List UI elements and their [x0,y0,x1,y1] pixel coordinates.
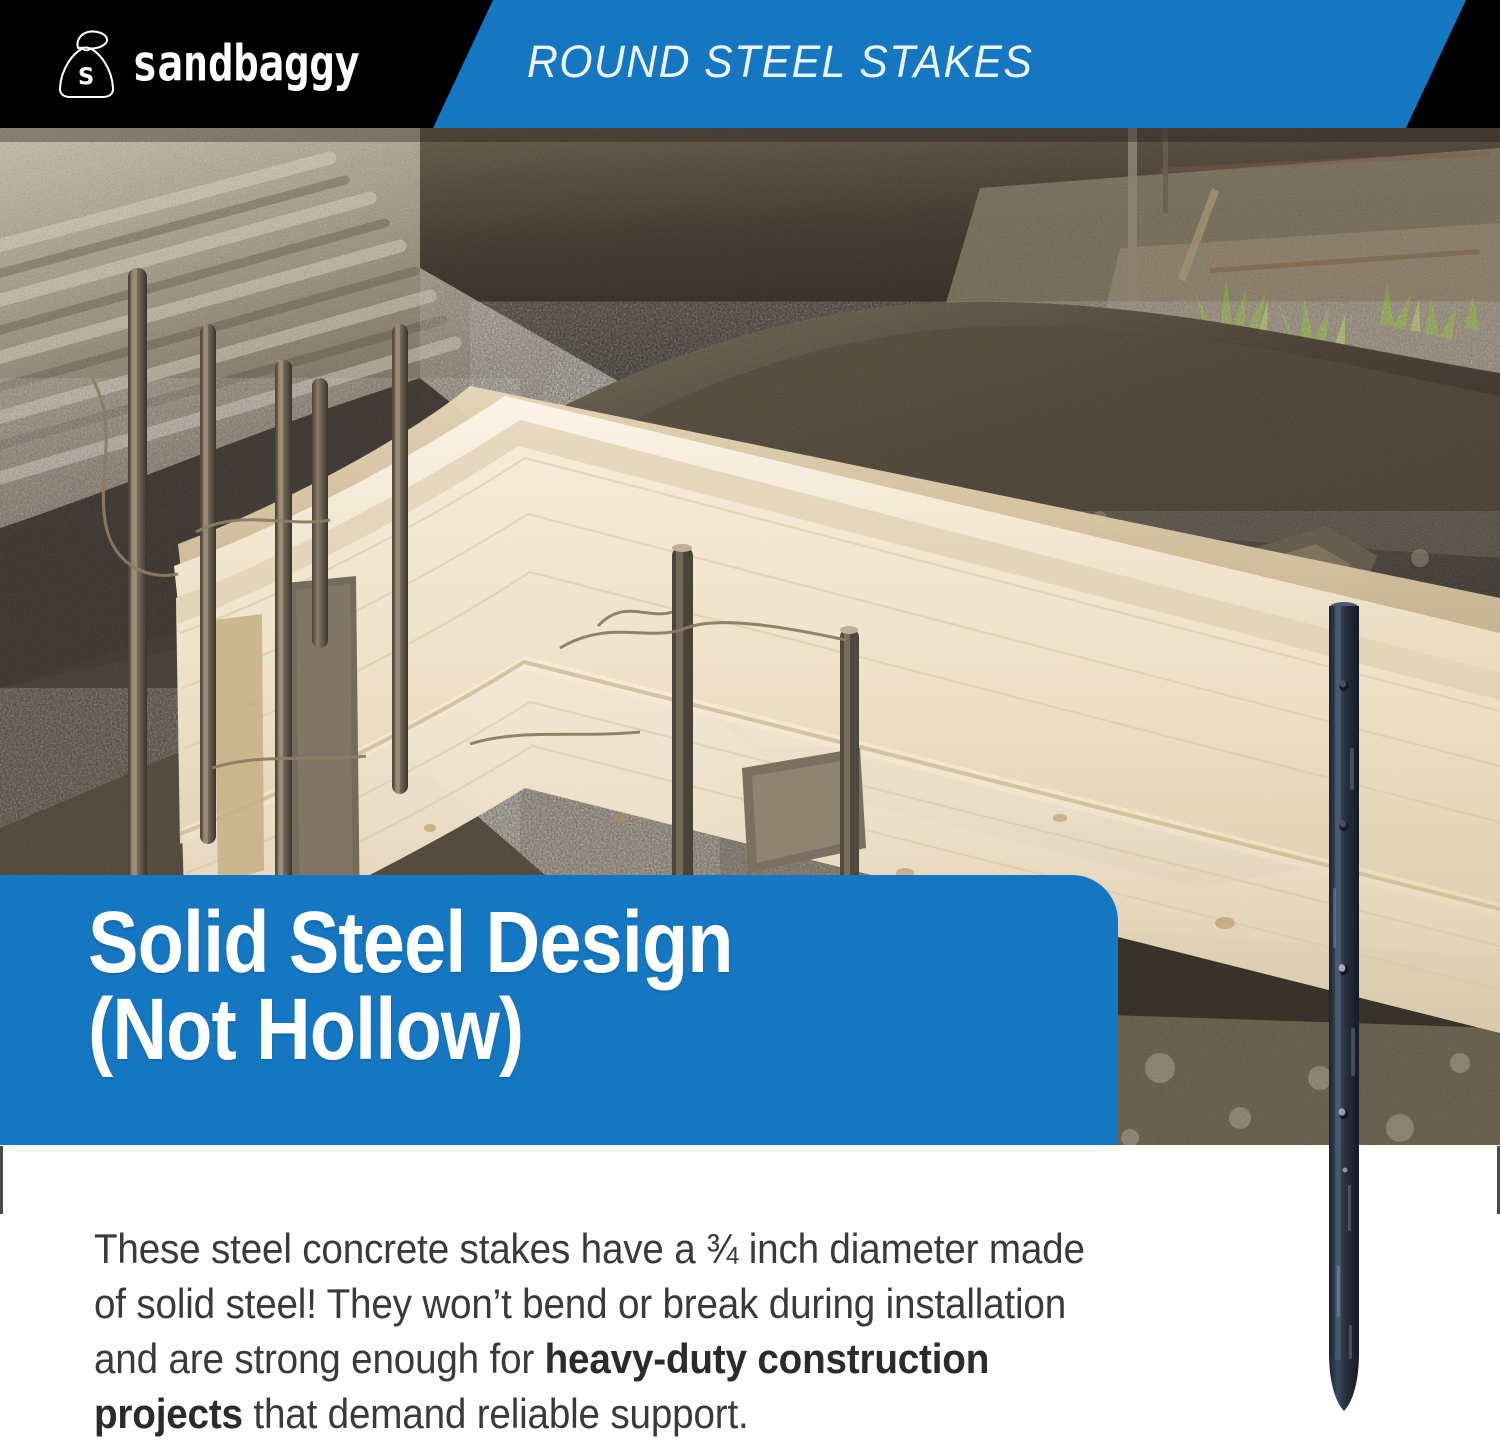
stake-overhang [1324,1145,1364,1413]
brand-logo-text: sandbaggy [132,39,360,89]
left-edge-rule [0,1146,3,1214]
description-paragraph: These steel concrete stakes have a ¾ inc… [94,1221,1124,1441]
header-bar: s sandbaggy ROUND STEEL STAKES [0,0,1500,128]
description-section: These steel concrete stakes have a ¾ inc… [0,1145,1500,1441]
infographic-page: s sandbaggy ROUND STEEL STAKES [0,0,1500,1441]
round-steel-stake-main [1329,602,1359,1145]
headline-panel: Solid Steel Design (Not Hollow) [0,875,1118,1145]
headline-text: Solid Steel Design (Not Hollow) [88,899,958,1073]
stake-tip-icon [1324,1145,1364,1413]
brand-logo[interactable]: s sandbaggy [56,28,355,100]
svg-text:s: s [77,57,95,92]
header-title: ROUND STEEL STAKES [527,39,1033,84]
description-part-2: that demand reliable support. [243,1390,749,1437]
sandbag-icon: s [56,28,118,100]
